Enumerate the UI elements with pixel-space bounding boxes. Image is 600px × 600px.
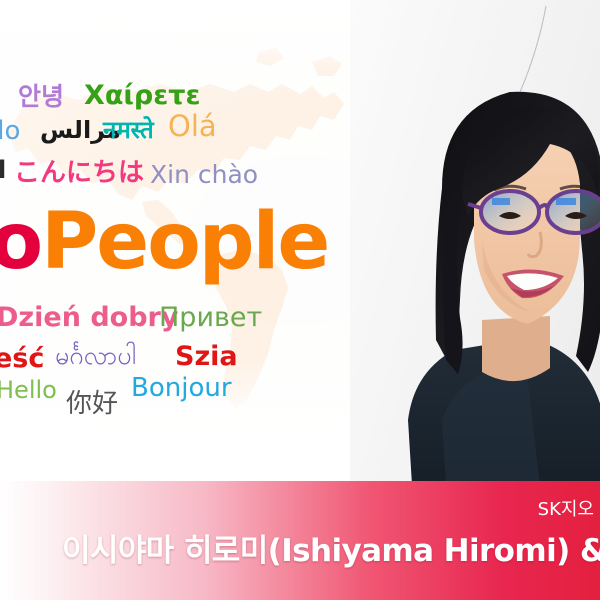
banner-title: 이시야마 히로미(Ishiyama Hiromi) & 박 xyxy=(62,525,600,570)
video-thumbnail: 안녕Χαίρετεlloمرالسनमस्तेOlálこんにちはXin chào… xyxy=(0,0,600,600)
headline-orange-part: People xyxy=(41,197,328,287)
headline-red-part: no xyxy=(0,197,41,287)
page-title: noPeople xyxy=(0,203,328,281)
banner-kicker: SK지오 xyxy=(538,495,594,521)
lower-third-banner: SK지오 이시야마 히로미(Ishiyama Hiromi) & 박 xyxy=(0,481,600,600)
presenter-portrait xyxy=(350,0,600,485)
presenter-neck xyxy=(482,316,550,381)
